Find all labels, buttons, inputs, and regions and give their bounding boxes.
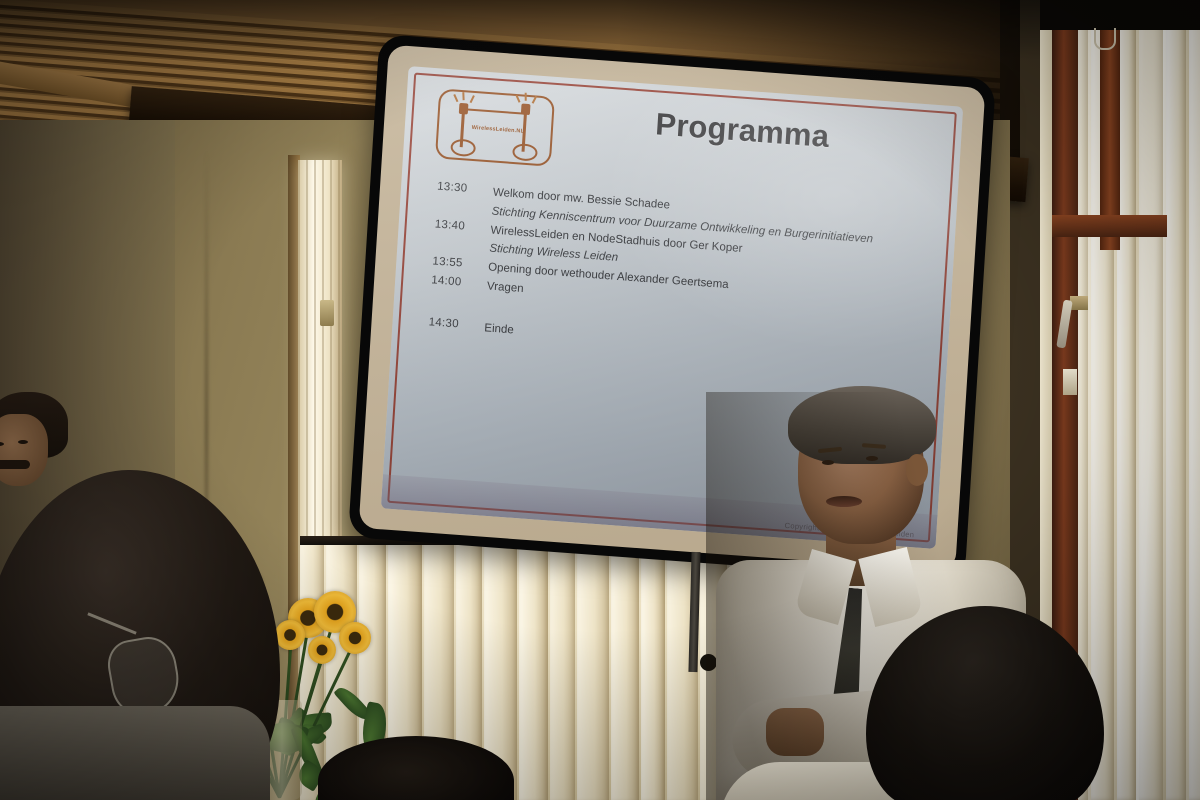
window-latch-upper[interactable] xyxy=(320,300,334,326)
logo-base-right xyxy=(512,143,538,162)
curtain-hook-icon xyxy=(1094,28,1116,50)
logo-spark-icon xyxy=(515,95,520,103)
agenda-text: Vragen xyxy=(486,278,524,298)
sunflower-bloom xyxy=(275,620,305,650)
slide-title: Programma xyxy=(654,106,830,155)
right-window-transom xyxy=(1052,215,1167,237)
speaker-eye-left xyxy=(822,460,834,465)
speaker-hair xyxy=(788,386,936,464)
agenda-text: Einde xyxy=(484,320,514,340)
logo-antenna-right xyxy=(521,103,531,115)
photo-scene: WirelessLeiden.NL Programma 13:30Welkom … xyxy=(0,0,1200,800)
agenda-time: 13:30 xyxy=(437,180,494,196)
wall-plate xyxy=(1063,369,1077,395)
window-handle-base xyxy=(1070,296,1088,310)
logo-spark-icon xyxy=(462,92,464,100)
logo-spark-icon xyxy=(532,96,537,104)
audience-bald-man-shoulders xyxy=(0,706,270,800)
logo-spark-icon xyxy=(470,95,475,103)
logo-link-line xyxy=(464,108,526,115)
blind-vane[interactable] xyxy=(1166,10,1186,800)
logo-base-left xyxy=(450,138,476,157)
mustache-man-face xyxy=(0,414,48,486)
speaker-mouth xyxy=(826,496,862,507)
mustache-man-eye-right xyxy=(18,440,28,444)
wireless-leiden-logo: WirelessLeiden.NL xyxy=(435,88,555,166)
blind-vane[interactable] xyxy=(577,540,609,800)
right-top-shadow xyxy=(1040,0,1200,30)
sunflower-bloom xyxy=(308,636,336,664)
mustache xyxy=(0,460,30,469)
speaker-ear xyxy=(906,454,928,486)
speaker-eye-right xyxy=(866,456,878,461)
sunflower-bloom xyxy=(339,622,371,654)
blind-vane[interactable] xyxy=(611,540,639,800)
agenda-list: 13:30Welkom door mw. Bessie SchadeeStich… xyxy=(428,180,932,371)
blind-vane[interactable] xyxy=(1189,10,1200,800)
blind-vane[interactable] xyxy=(550,540,575,800)
logo-spark-icon xyxy=(525,93,527,101)
logo-wordmark: WirelessLeiden.NL xyxy=(467,125,529,136)
blind-vane[interactable] xyxy=(641,540,665,800)
blind-vane[interactable] xyxy=(1139,10,1163,800)
logo-antenna-left xyxy=(459,103,469,115)
blind-vane[interactable] xyxy=(519,540,548,800)
audience-man-with-mustache xyxy=(0,392,72,497)
speaker-hand xyxy=(766,708,824,756)
logo-spark-icon xyxy=(453,94,458,102)
